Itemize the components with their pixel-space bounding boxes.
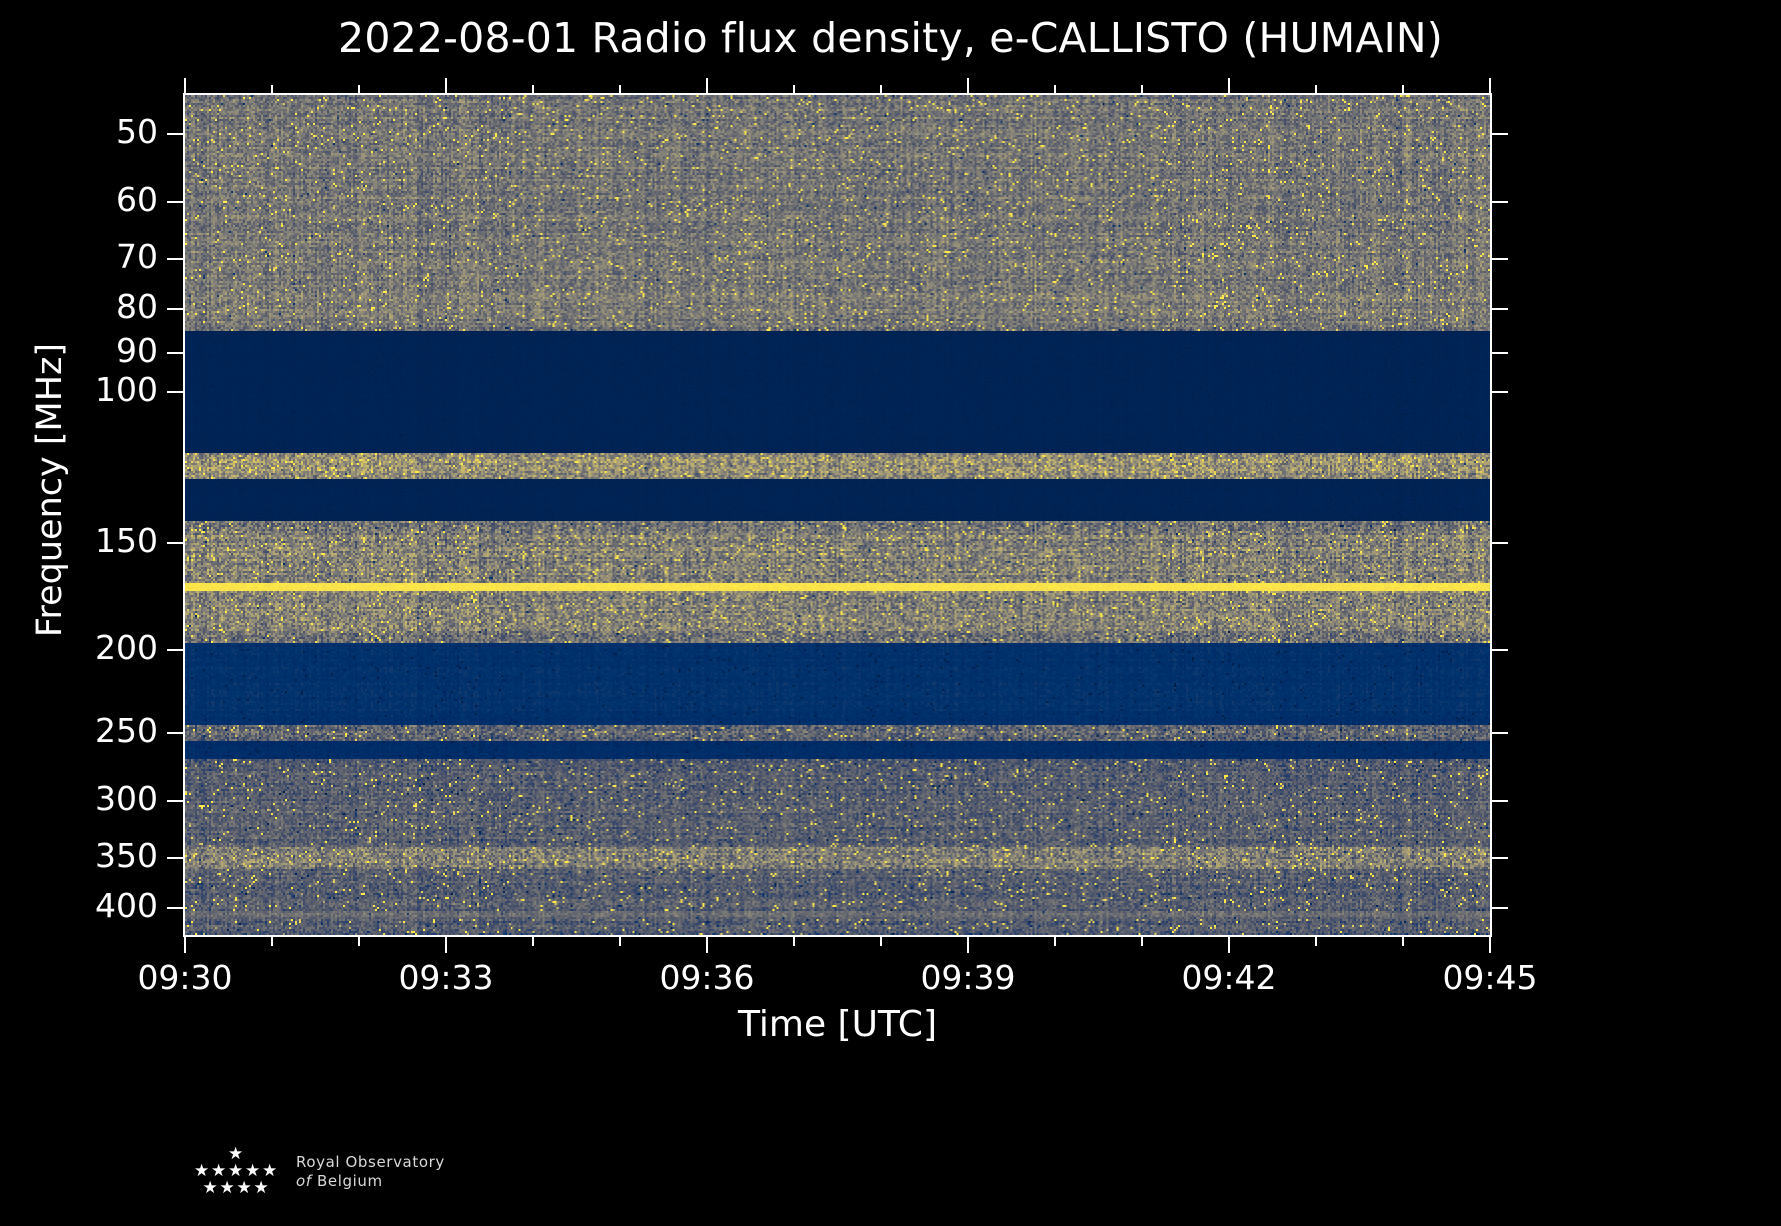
- y-tick-label: 90: [0, 331, 158, 370]
- x-tick-mark-minor: [271, 936, 273, 946]
- x-tick-mark-minor: [532, 936, 534, 946]
- spectrogram-heatmap[interactable]: [185, 95, 1490, 935]
- y-tick-label: 80: [0, 287, 158, 326]
- x-tick-mark-minor: [1141, 936, 1143, 946]
- x-tick-mark-minor: [880, 936, 882, 946]
- y-tick-mark-right: [1491, 133, 1508, 135]
- royal-observatory-stars-icon: ★★★★★★★★★★: [188, 1146, 284, 1198]
- y-tick-mark: [167, 352, 184, 354]
- y-tick-mark: [167, 907, 184, 909]
- x-tick-mark-minor-top: [532, 85, 534, 95]
- x-tick-mark-top: [706, 78, 708, 95]
- y-tick-label: 250: [0, 711, 158, 750]
- x-tick-mark-minor: [793, 936, 795, 946]
- x-tick-label: 09:36: [617, 958, 797, 997]
- y-tick-label: 70: [0, 237, 158, 276]
- x-tick-mark-minor: [1402, 936, 1404, 946]
- x-tick-mark: [184, 936, 186, 953]
- y-tick-mark-right: [1491, 258, 1508, 260]
- y-tick-mark: [167, 857, 184, 859]
- x-tick-mark-minor: [619, 936, 621, 946]
- logo-star-icon: ★: [254, 1180, 269, 1197]
- x-tick-mark-top: [1489, 78, 1491, 95]
- y-tick-mark-right: [1491, 308, 1508, 310]
- x-tick-mark-top: [445, 78, 447, 95]
- x-tick-label: 09:33: [356, 958, 536, 997]
- y-tick-mark: [167, 133, 184, 135]
- x-tick-mark-minor: [1315, 936, 1317, 946]
- x-tick-mark-minor-top: [1054, 85, 1056, 95]
- spectrogram-plot-area[interactable]: [185, 95, 1490, 935]
- x-tick-mark-top: [967, 78, 969, 95]
- y-axis-label: Frequency [MHz]: [30, 280, 70, 700]
- x-tick-label: 09:30: [95, 958, 275, 997]
- x-tick-mark-minor-top: [1402, 85, 1404, 95]
- x-tick-mark-top: [184, 78, 186, 95]
- y-tick-label: 100: [0, 370, 158, 409]
- x-tick-mark-minor-top: [271, 85, 273, 95]
- x-tick-mark-top: [1228, 78, 1230, 95]
- credit-text: Royal Observatory of Belgium: [296, 1153, 445, 1191]
- x-tick-mark-minor: [358, 936, 360, 946]
- axis-spine-left: [183, 95, 185, 937]
- credit-of-word: of: [296, 1172, 312, 1190]
- y-tick-label: 60: [0, 180, 158, 219]
- spectrogram-figure: 2022-08-01 Radio flux density, e-CALLIST…: [0, 0, 1781, 1226]
- y-tick-mark: [167, 800, 184, 802]
- y-tick-label: 50: [0, 112, 158, 151]
- credit-organisation: Royal Observatory: [296, 1153, 445, 1172]
- x-tick-mark: [445, 936, 447, 953]
- x-tick-mark-minor-top: [793, 85, 795, 95]
- y-tick-mark-right: [1491, 800, 1508, 802]
- x-tick-label: 09:45: [1400, 958, 1580, 997]
- x-tick-label: 09:39: [878, 958, 1058, 997]
- axis-spine-right: [1490, 95, 1492, 937]
- y-tick-mark-right: [1491, 201, 1508, 203]
- y-tick-mark: [167, 258, 184, 260]
- x-tick-mark-minor-top: [1315, 85, 1317, 95]
- y-tick-mark-right: [1491, 649, 1508, 651]
- x-tick-label: 09:42: [1139, 958, 1319, 997]
- y-tick-label: 400: [0, 886, 158, 925]
- x-tick-mark-minor-top: [880, 85, 882, 95]
- y-tick-mark: [167, 732, 184, 734]
- y-tick-mark: [167, 308, 184, 310]
- logo-star-icon: ★: [237, 1180, 252, 1197]
- y-tick-label: 150: [0, 521, 158, 560]
- observatory-credit: ★★★★★★★★★★ Royal Observatory of Belgium: [188, 1146, 445, 1198]
- y-tick-mark-right: [1491, 352, 1508, 354]
- y-tick-mark-right: [1491, 857, 1508, 859]
- y-tick-label: 350: [0, 836, 158, 875]
- x-axis-label: Time [UTC]: [185, 1004, 1490, 1045]
- y-tick-mark: [167, 391, 184, 393]
- page-title: 2022-08-01 Radio flux density, e-CALLIST…: [0, 14, 1781, 62]
- y-tick-mark-right: [1491, 391, 1508, 393]
- x-tick-mark: [1228, 936, 1230, 953]
- x-tick-mark-minor: [1054, 936, 1056, 946]
- axis-spine-bottom: [183, 935, 1492, 937]
- y-tick-mark-right: [1491, 732, 1508, 734]
- credit-country-name: Belgium: [317, 1172, 383, 1190]
- axis-spine-top: [183, 93, 1492, 95]
- x-tick-mark: [1489, 936, 1491, 953]
- y-tick-label: 200: [0, 628, 158, 667]
- y-tick-mark: [167, 649, 184, 651]
- x-tick-mark-minor-top: [1141, 85, 1143, 95]
- logo-star-icon: ★: [220, 1180, 235, 1197]
- x-tick-mark: [706, 936, 708, 953]
- y-tick-mark: [167, 201, 184, 203]
- x-tick-mark-minor-top: [619, 85, 621, 95]
- logo-star-icon: ★: [203, 1180, 218, 1197]
- x-tick-mark: [967, 936, 969, 953]
- y-tick-mark-right: [1491, 907, 1508, 909]
- x-tick-mark-minor-top: [358, 85, 360, 95]
- credit-country: of Belgium: [296, 1172, 445, 1191]
- y-tick-mark-right: [1491, 542, 1508, 544]
- y-tick-label: 300: [0, 779, 158, 818]
- y-tick-mark: [167, 542, 184, 544]
